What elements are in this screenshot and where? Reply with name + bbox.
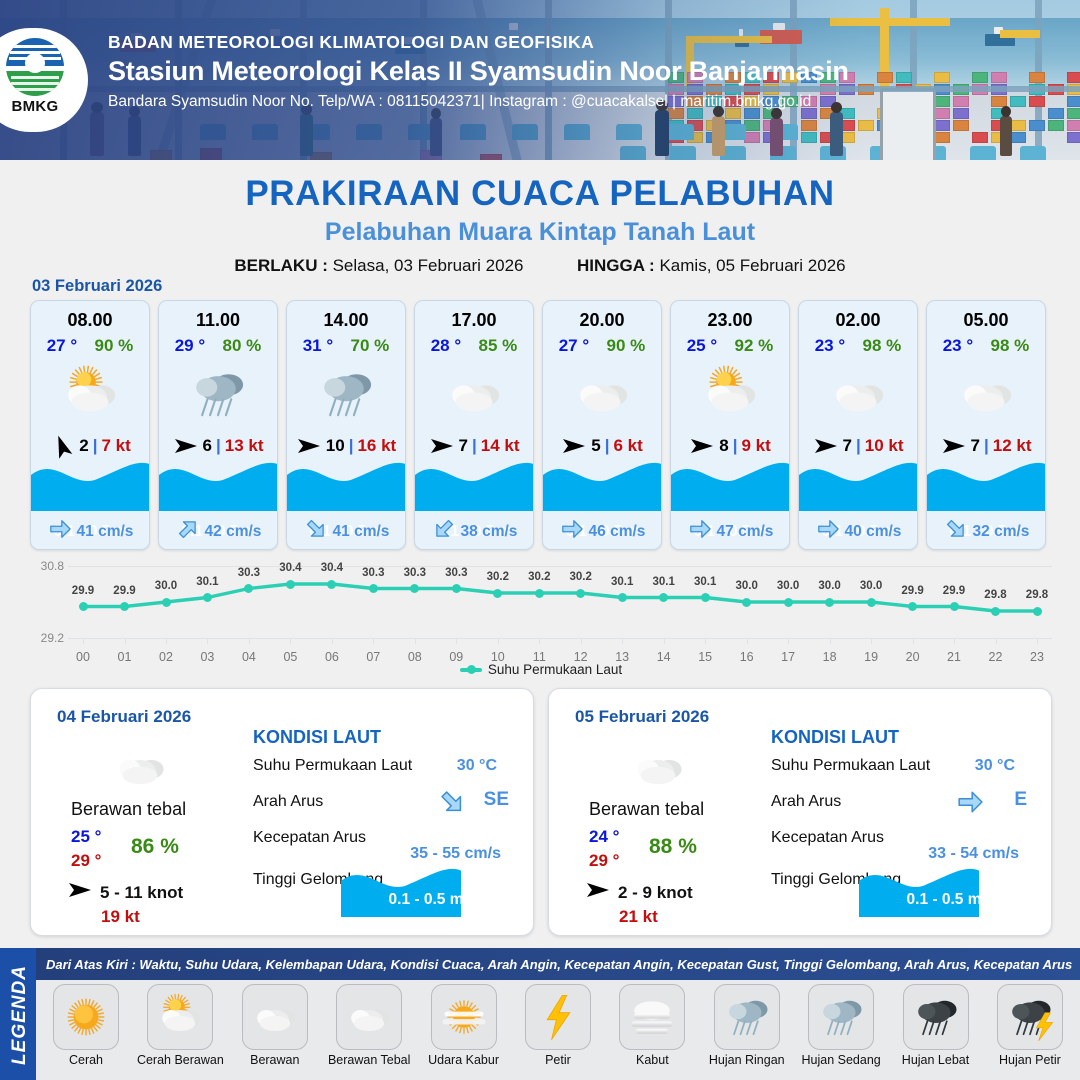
card-wave-graphic — [159, 453, 278, 511]
summary-gust: 21 kt — [619, 907, 658, 927]
legend-item-label: Hujan Petir — [984, 1053, 1076, 1067]
chart-point-label: 30.1 — [196, 576, 218, 588]
legend-title: LEGENDA — [9, 955, 31, 1075]
chart-point-label: 30.0 — [860, 580, 882, 592]
summary-current-arrow-icon — [439, 789, 465, 820]
card-time: 05.00 — [927, 310, 1045, 331]
card-time: 08.00 — [31, 310, 149, 331]
chart-point — [867, 598, 876, 607]
card-current-speed: 38 cm/s — [461, 523, 518, 541]
page-header: BMKG BADAN METEOROLOGI KLIMATOLOGI DAN G… — [0, 0, 1080, 160]
card-wave-graphic — [543, 453, 662, 511]
forecast-card: 08.00 27 ° 90 % 2 | 7 kt 0.1 - 0.5 m — [30, 300, 150, 550]
chart-point-label: 29.9 — [943, 585, 965, 597]
legend-icon-hujan-sedang — [808, 984, 874, 1050]
chart-point-label: 30.3 — [238, 567, 260, 579]
forecast-card: 11.00 29 ° 80 % 6 | 13 kt 0.1 - 0.5 m — [158, 300, 278, 550]
sst-label: Suhu Permukaan Laut — [771, 757, 930, 775]
legend-item: Cerah Berawan — [134, 984, 226, 1080]
chart-point-label: 29.9 — [113, 585, 135, 597]
summary-weather-icon-berawan-tebal — [109, 737, 171, 804]
summary-humidity: 88 % — [649, 835, 697, 859]
summary-wave-value: 0.1 - 0.5 m — [341, 891, 511, 909]
station-name: Stasiun Meteorologi Kelas II Syamsudin N… — [108, 56, 849, 87]
summary-weather-icon-berawan-tebal — [627, 737, 689, 804]
summary-wind-range: 2 - 9 knot — [618, 883, 693, 903]
current-direction-arrow-icon — [689, 518, 711, 545]
title-block: PRAKIRAAN CUACA PELABUHAN Pelabuhan Muar… — [0, 160, 1080, 276]
legend-item: Hujan Lebat — [890, 984, 982, 1080]
legend-note: Dari Atas Kiri : Waktu, Suhu Udara, Kele… — [36, 948, 1080, 980]
card-current-speed: 40 cm/s — [845, 523, 902, 541]
chart-point-label: 30.0 — [155, 580, 177, 592]
sst-value: 30 °C — [975, 757, 1015, 775]
legend-item: Berawan Tebal — [323, 984, 415, 1080]
forecast-card: 17.00 28 ° 85 % 7 | 14 kt 0.1 - 0.5 m — [414, 300, 534, 550]
page-title: PRAKIRAAN CUACA PELABUHAN — [0, 174, 1080, 214]
valid-until-value: Kamis, 05 Februari 2026 — [659, 256, 845, 275]
card-humidity: 92 % — [735, 336, 774, 356]
card-time: 11.00 — [159, 310, 277, 331]
bmkg-logo-circle — [6, 38, 64, 96]
forecast-day-label: 03 Februari 2026 — [32, 277, 162, 296]
chart-point-label: 30.3 — [362, 567, 384, 579]
card-current-speed: 46 cm/s — [589, 523, 646, 541]
forecast-card: 02.00 23 ° 98 % 7 | 10 kt 0.1 - 0.5 m — [798, 300, 918, 550]
summary-wave-graphic: 0.1 - 0.5 m — [341, 865, 511, 917]
summary-wind-arrow-icon — [67, 881, 93, 904]
card-weather-icon-berawan-tebal — [415, 358, 533, 430]
legend-item: Berawan — [229, 984, 321, 1080]
summary-wave-value: 0.1 - 0.5 m — [859, 891, 1029, 909]
card-temperature: 23 ° — [815, 336, 845, 356]
chart-point — [162, 598, 171, 607]
card-humidity: 80 % — [223, 336, 262, 356]
card-weather-icon-cerah-berawan — [31, 358, 149, 430]
sea-condition-title: KONDISI LAUT — [253, 727, 381, 748]
sst-chart-plot: 30.829.229.90029.90130.00230.10330.30430… — [68, 566, 1052, 638]
card-wave-graphic — [927, 453, 1046, 511]
card-temperature: 29 ° — [175, 336, 205, 356]
chart-point — [576, 589, 585, 598]
chart-point — [618, 593, 627, 602]
sst-chart: 30.829.229.90029.90130.00230.10330.30430… — [30, 558, 1052, 678]
card-time: 14.00 — [287, 310, 405, 331]
chart-point — [742, 598, 751, 607]
legend-icon-petir — [525, 984, 591, 1050]
forecast-card: 23.00 25 ° 92 % 8 | 9 kt 0.1 - 0.5 m — [670, 300, 790, 550]
card-humidity: 70 % — [351, 336, 390, 356]
legend-item: Cerah — [40, 984, 132, 1080]
legend-item-label: Hujan Lebat — [890, 1053, 982, 1067]
chart-legend-marker — [460, 668, 482, 672]
chart-point-label: 30.1 — [694, 576, 716, 588]
chart-point-label: 30.4 — [279, 562, 301, 574]
legend-items: Cerah Cerah Berawan Berawan Berawan Teba… — [36, 980, 1080, 1080]
legend-icon-cerah-berawan — [147, 984, 213, 1050]
summary-wind-range: 5 - 11 knot — [100, 883, 183, 903]
legend-item: Hujan Ringan — [701, 984, 793, 1080]
sst-value: 30 °C — [457, 757, 497, 775]
hourly-forecast-cards: 08.00 27 ° 90 % 2 | 7 kt 0.1 - 0.5 m — [30, 300, 1052, 550]
summary-wave-graphic: 0.1 - 0.5 m — [859, 865, 1029, 917]
y-axis-tick-min: 29.2 — [30, 631, 64, 645]
chart-point — [825, 598, 834, 607]
valid-from-value: Selasa, 03 Februari 2026 — [333, 256, 524, 275]
daily-summary-panel: 04 Februari 2026 Berawan tebal 25 ° 29 °… — [30, 688, 534, 936]
legend-item: Kabut — [606, 984, 698, 1080]
chart-point — [701, 593, 710, 602]
legend-item: Petir — [512, 984, 604, 1080]
card-weather-icon-hujan-sedang — [159, 358, 277, 430]
card-time: 02.00 — [799, 310, 917, 331]
summary-wind-arrow-icon — [585, 881, 611, 904]
contact-line: Bandara Syamsudin Noor No. Telp/WA : 081… — [108, 93, 849, 111]
legend-icon-cerah — [53, 984, 119, 1050]
card-humidity: 90 % — [607, 336, 646, 356]
card-current-speed: 41 cm/s — [333, 523, 390, 541]
card-current-speed: 47 cm/s — [717, 523, 774, 541]
chart-point — [991, 607, 1000, 616]
forecast-card: 14.00 31 ° 70 % 10 | 16 kt 0.1 - 0.5 m — [286, 300, 406, 550]
chart-point-label: 29.8 — [984, 589, 1006, 601]
chart-point-label: 30.0 — [735, 580, 757, 592]
current-direction-value: E — [1014, 789, 1027, 811]
chart-point — [1033, 607, 1042, 616]
card-time: 17.00 — [415, 310, 533, 331]
current-speed-label: Kecepatan Arus — [253, 829, 366, 847]
card-weather-icon-berawan-tebal — [927, 358, 1045, 430]
current-direction-arrow-icon — [561, 518, 583, 545]
summary-date: 05 Februari 2026 — [575, 707, 709, 727]
chart-legend-label: Suhu Permukaan Laut — [488, 662, 622, 677]
chart-point-label: 30.3 — [445, 567, 467, 579]
chart-point-label: 30.3 — [404, 567, 426, 579]
current-direction-arrow-icon — [305, 518, 327, 545]
card-temperature: 25 ° — [687, 336, 717, 356]
chart-point-label: 30.2 — [528, 571, 550, 583]
legend-item-label: Berawan — [229, 1053, 321, 1067]
legend-item: Udara Kabur — [418, 984, 510, 1080]
chart-point — [79, 602, 88, 611]
card-wave-graphic — [287, 453, 406, 511]
card-humidity: 98 % — [991, 336, 1030, 356]
summary-condition: Berawan tebal — [71, 799, 186, 820]
current-direction-arrow-icon — [49, 518, 71, 545]
chart-point-label: 30.1 — [611, 576, 633, 588]
daily-summary-panels: 04 Februari 2026 Berawan tebal 25 ° 29 °… — [30, 688, 1052, 936]
y-axis-tick-max: 30.8 — [30, 559, 64, 573]
chart-point — [286, 580, 295, 589]
chart-point-label: 29.9 — [72, 585, 94, 597]
chart-point-label: 30.4 — [321, 562, 343, 574]
card-wave-graphic — [799, 453, 918, 511]
summary-temp-min: 25 ° — [71, 827, 101, 847]
card-weather-icon-berawan-tebal — [799, 358, 917, 430]
chart-point-label: 29.8 — [1026, 589, 1048, 601]
card-current-speed: 41 cm/s — [77, 523, 134, 541]
chart-point-label: 30.2 — [569, 571, 591, 583]
card-wave-graphic — [31, 453, 150, 511]
chart-point — [784, 598, 793, 607]
chart-point — [535, 589, 544, 598]
valid-from-label: BERLAKU : — [234, 256, 328, 275]
daily-summary-panel: 05 Februari 2026 Berawan tebal 24 ° 29 °… — [548, 688, 1052, 936]
legend-item-label: Kabut — [606, 1053, 698, 1067]
card-temperature: 31 ° — [303, 336, 333, 356]
legend-icon-hujan-ringan — [714, 984, 780, 1050]
legend-item-label: Udara Kabur — [418, 1053, 510, 1067]
summary-gust: 19 kt — [101, 907, 140, 927]
card-current-speed: 32 cm/s — [973, 523, 1030, 541]
legend-icon-kabut — [619, 984, 685, 1050]
page-subtitle: Pelabuhan Muara Kintap Tanah Laut — [0, 218, 1080, 247]
legend-icon-hujan-lebat — [903, 984, 969, 1050]
legend-item-label: Petir — [512, 1053, 604, 1067]
legend-item-label: Cerah — [40, 1053, 132, 1067]
current-direction-label: Arah Arus — [253, 793, 323, 811]
current-speed-label: Kecepatan Arus — [771, 829, 884, 847]
chart-point-label: 30.1 — [652, 576, 674, 588]
summary-temp-min: 24 ° — [589, 827, 619, 847]
agency-name: BADAN METEOROLOGI KLIMATOLOGI DAN GEOFIS… — [108, 32, 849, 53]
summary-condition: Berawan tebal — [589, 799, 704, 820]
current-direction-arrow-icon — [945, 518, 967, 545]
legend-item: Hujan Petir — [984, 984, 1076, 1080]
legend-item: Hujan Sedang — [795, 984, 887, 1080]
legend-item-label: Hujan Ringan — [701, 1053, 793, 1067]
chart-point-label: 29.9 — [901, 585, 923, 597]
sst-label: Suhu Permukaan Laut — [253, 757, 412, 775]
summary-temp-max: 29 ° — [71, 851, 101, 871]
card-temperature: 27 ° — [47, 336, 77, 356]
card-weather-icon-berawan-tebal — [543, 358, 661, 430]
card-current-speed: 42 cm/s — [205, 523, 262, 541]
card-temperature: 23 ° — [943, 336, 973, 356]
card-weather-icon-cerah-berawan — [671, 358, 789, 430]
legend-icon-hujan-petir — [997, 984, 1063, 1050]
card-temperature: 27 ° — [559, 336, 589, 356]
chart-point — [452, 584, 461, 593]
summary-humidity: 86 % — [131, 835, 179, 859]
card-wave-graphic — [671, 453, 790, 511]
card-wave-graphic — [415, 453, 534, 511]
chart-point — [203, 593, 212, 602]
current-direction-value: SE — [484, 789, 509, 811]
current-direction-arrow-icon — [177, 518, 199, 545]
legend-icon-berawan — [242, 984, 308, 1050]
card-time: 20.00 — [543, 310, 661, 331]
card-humidity: 98 % — [863, 336, 902, 356]
current-direction-arrow-icon — [817, 518, 839, 545]
chart-point — [327, 580, 336, 589]
valid-until-label: HINGGA : — [577, 256, 655, 275]
chart-point-label: 30.2 — [487, 571, 509, 583]
chart-point — [120, 602, 129, 611]
forecast-card: 05.00 23 ° 98 % 7 | 12 kt 0.1 - 0.5 m — [926, 300, 1046, 550]
card-weather-icon-hujan-sedang — [287, 358, 405, 430]
current-direction-label: Arah Arus — [771, 793, 841, 811]
forecast-card: 20.00 27 ° 90 % 5 | 6 kt 0.1 - 0.5 m — [542, 300, 662, 550]
chart-point-label: 30.0 — [777, 580, 799, 592]
chart-point — [369, 584, 378, 593]
current-direction-arrow-icon — [433, 518, 455, 545]
card-temperature: 28 ° — [431, 336, 461, 356]
legend-icon-berawan-tebal — [336, 984, 402, 1050]
chart-legend: Suhu Permukaan Laut — [30, 662, 1052, 677]
card-humidity: 90 % — [95, 336, 134, 356]
summary-date: 04 Februari 2026 — [57, 707, 191, 727]
legend-section: LEGENDA Dari Atas Kiri : Waktu, Suhu Uda… — [0, 948, 1080, 1080]
legend-item-label: Hujan Sedang — [795, 1053, 887, 1067]
card-time: 23.00 — [671, 310, 789, 331]
legend-icon-udara-kabur — [431, 984, 497, 1050]
summary-current-arrow-icon — [957, 789, 983, 820]
chart-point — [950, 602, 959, 611]
legend-sidebar: LEGENDA — [0, 948, 36, 1080]
chart-point — [493, 589, 502, 598]
legend-item-label: Berawan Tebal — [323, 1053, 415, 1067]
bmkg-logo-text: BMKG — [2, 98, 68, 115]
summary-temp-max: 29 ° — [589, 851, 619, 871]
sea-condition-title: KONDISI LAUT — [771, 727, 899, 748]
legend-item-label: Cerah Berawan — [134, 1053, 226, 1067]
card-humidity: 85 % — [479, 336, 518, 356]
validity-line: BERLAKU : Selasa, 03 Februari 2026 HINGG… — [0, 256, 1080, 276]
chart-point-label: 30.0 — [818, 580, 840, 592]
